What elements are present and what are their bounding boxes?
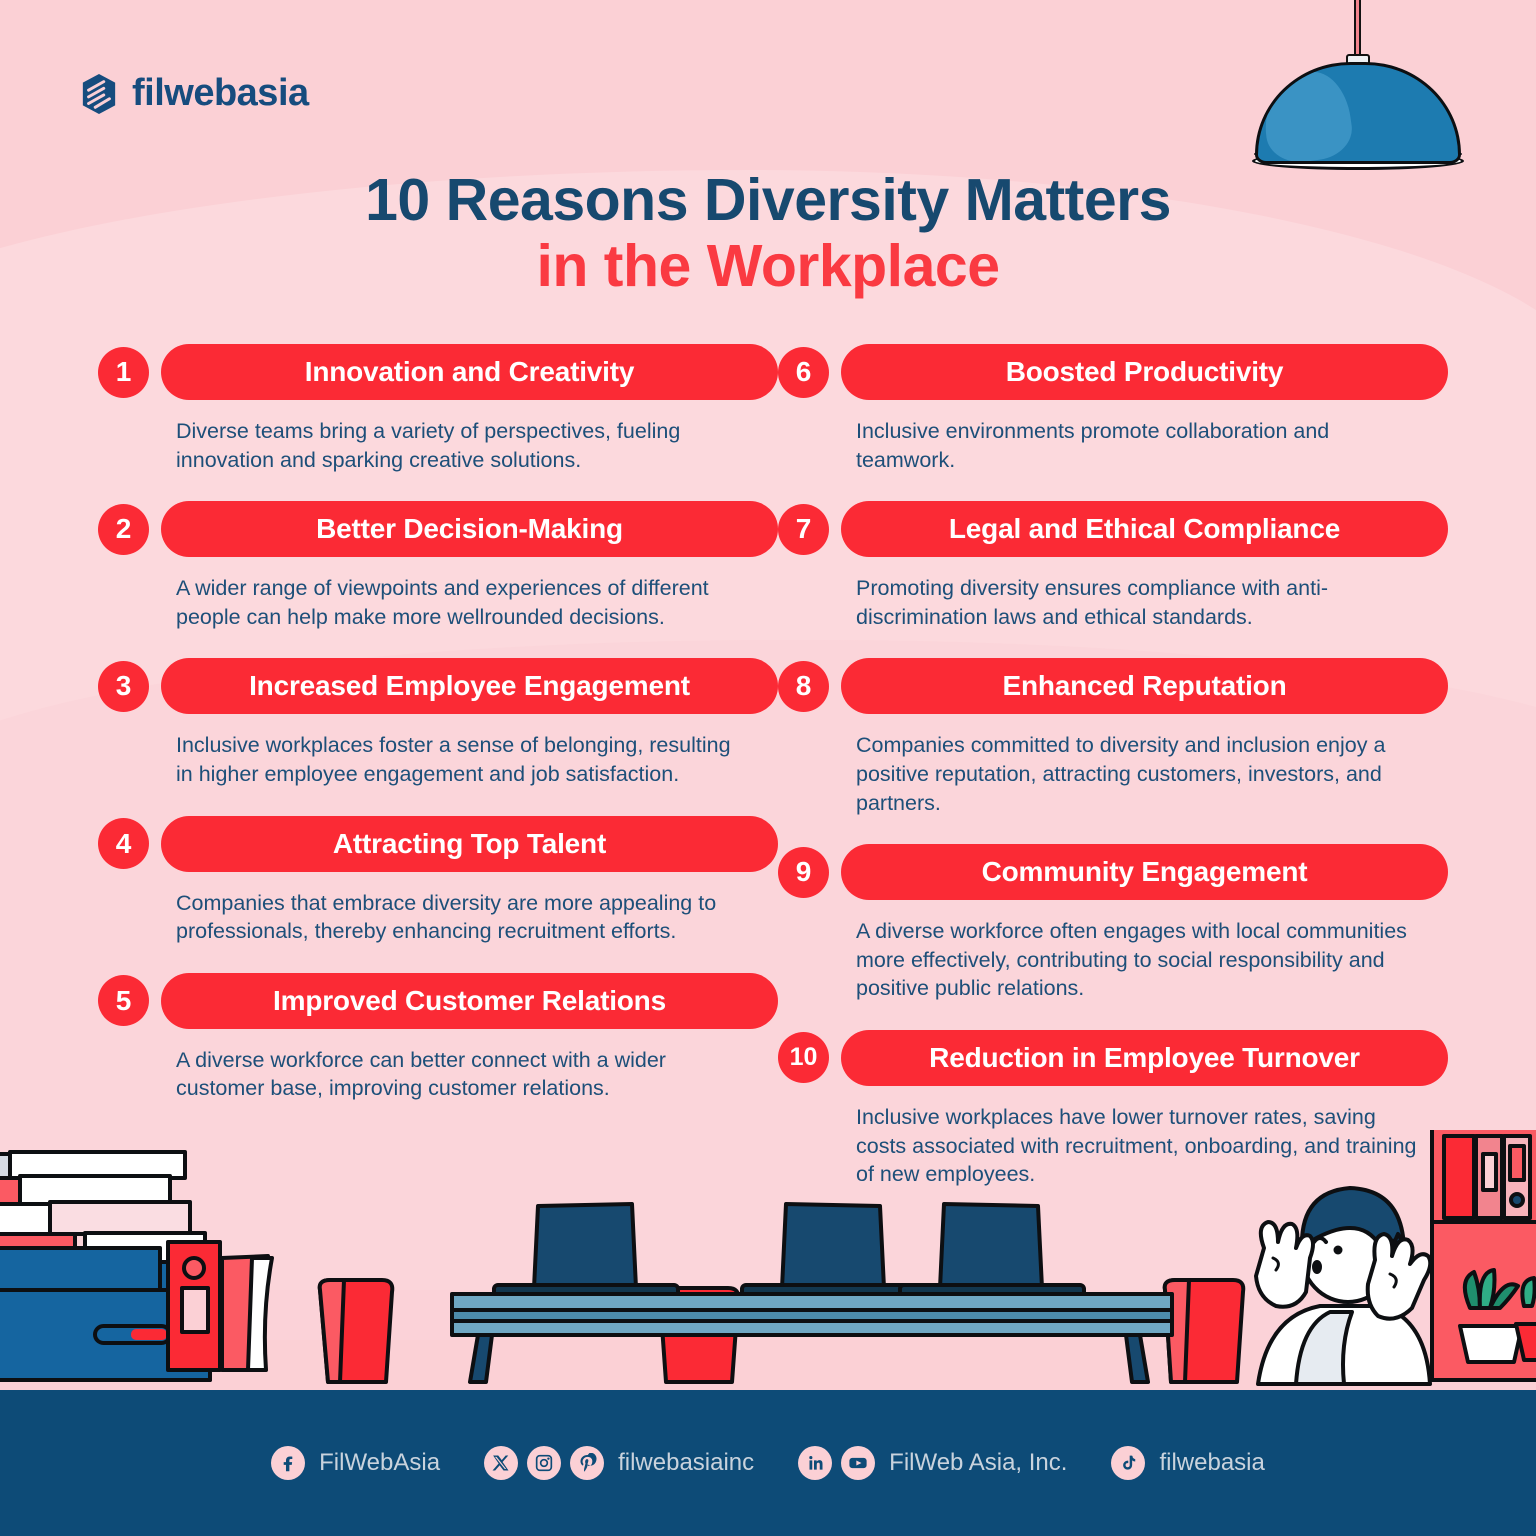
facebook-handle: FilWebAsia bbox=[319, 1449, 440, 1477]
reason-description-6: Inclusive environments promote collabora… bbox=[856, 417, 1421, 474]
instagram-icon[interactable] bbox=[527, 1446, 561, 1480]
reason-header-1: 1 Innovation and Creativity bbox=[98, 344, 778, 400]
reason-number-badge-10: 10 bbox=[778, 1032, 829, 1083]
reason-header-10: 10 Reduction in Employee Turnover bbox=[778, 1030, 1448, 1086]
reason-description-7: Promoting diversity ensures compliance w… bbox=[856, 574, 1421, 631]
reason-item-7: 7 Legal and Ethical Compliance Promoting… bbox=[778, 501, 1448, 631]
reason-number-badge-2: 2 bbox=[98, 504, 149, 555]
reasons-column-left: 1 Innovation and Creativity Diverse team… bbox=[98, 344, 778, 1216]
reason-item-6: 6 Boosted Productivity Inclusive environ… bbox=[778, 344, 1448, 474]
laptop bbox=[742, 1204, 926, 1297]
reason-heading-pill-2[interactable]: Better Decision-Making bbox=[161, 501, 778, 557]
reason-heading-pill-5[interactable]: Improved Customer Relations bbox=[161, 973, 778, 1029]
reason-heading-pill-1[interactable]: Innovation and Creativity bbox=[161, 344, 778, 400]
reason-header-6: 6 Boosted Productivity bbox=[778, 344, 1448, 400]
reason-description-2: A wider range of viewpoints and experien… bbox=[176, 574, 741, 631]
reason-heading-pill-4[interactable]: Attracting Top Talent bbox=[161, 816, 778, 872]
red-binder bbox=[168, 1242, 272, 1370]
reason-number-badge-7: 7 bbox=[778, 504, 829, 555]
reason-number-badge-6: 6 bbox=[778, 347, 829, 398]
lamp-cord bbox=[1354, 0, 1361, 58]
reason-number-badge-4: 4 bbox=[98, 818, 149, 869]
person-figure bbox=[1256, 1188, 1430, 1384]
facebook-icon[interactable] bbox=[271, 1446, 305, 1480]
reason-heading-pill-8[interactable]: Enhanced Reputation bbox=[841, 658, 1448, 714]
page-title: 10 Reasons Diversity Matters in the Work… bbox=[0, 168, 1536, 301]
brand-logo[interactable]: filwebasia bbox=[80, 72, 309, 115]
reason-number-badge-8: 8 bbox=[778, 661, 829, 712]
reason-item-5: 5 Improved Customer Relations A diverse … bbox=[98, 973, 778, 1103]
reason-heading-pill-10[interactable]: Reduction in Employee Turnover bbox=[841, 1030, 1448, 1086]
reason-description-9: A diverse workforce often engages with l… bbox=[856, 917, 1421, 1003]
xigpin-handle: filwebasiainc bbox=[618, 1449, 754, 1477]
reason-description-4: Companies that embrace diversity are mor… bbox=[176, 889, 741, 946]
x-twitter-icon[interactable] bbox=[484, 1446, 518, 1480]
laptop bbox=[494, 1204, 678, 1297]
page-title-line2: in the Workplace bbox=[0, 233, 1536, 301]
social-group-tiktok: filwebasia bbox=[1111, 1446, 1264, 1480]
reason-heading-pill-9[interactable]: Community Engagement bbox=[841, 844, 1448, 900]
reason-number-badge-5: 5 bbox=[98, 975, 149, 1026]
reason-header-4: 4 Attracting Top Talent bbox=[98, 816, 778, 872]
reason-header-7: 7 Legal and Ethical Compliance bbox=[778, 501, 1448, 557]
reason-header-5: 5 Improved Customer Relations bbox=[98, 973, 778, 1029]
reason-header-3: 3 Increased Employee Engagement bbox=[98, 658, 778, 714]
social-group-linkedin-youtube: FilWeb Asia, Inc. bbox=[798, 1446, 1067, 1480]
reason-item-2: 2 Better Decision-Making A wider range o… bbox=[98, 501, 778, 631]
brand-logo-text: filwebasia bbox=[132, 72, 309, 115]
infographic-canvas: filwebasia 10 Reasons Diversity Matters … bbox=[0, 0, 1536, 1536]
lamp-shade bbox=[1255, 62, 1461, 164]
filwebasia-hex-icon bbox=[80, 73, 118, 115]
reason-item-8: 8 Enhanced Reputation Companies committe… bbox=[778, 658, 1448, 817]
reason-header-8: 8 Enhanced Reputation bbox=[778, 658, 1448, 714]
reason-header-9: 9 Community Engagement bbox=[778, 844, 1448, 900]
reason-header-2: 2 Better Decision-Making bbox=[98, 501, 778, 557]
reason-description-5: A diverse workforce can better connect w… bbox=[176, 1046, 741, 1103]
tiktok-handle: filwebasia bbox=[1159, 1449, 1264, 1477]
reason-heading-pill-6[interactable]: Boosted Productivity bbox=[841, 344, 1448, 400]
reason-description-8: Companies committed to diversity and inc… bbox=[856, 731, 1421, 817]
office-scene-illustration bbox=[0, 1130, 1536, 1390]
social-group-facebook: FilWebAsia bbox=[271, 1446, 440, 1480]
reason-heading-pill-3[interactable]: Increased Employee Engagement bbox=[161, 658, 778, 714]
red-chair bbox=[320, 1280, 393, 1382]
social-footer: FilWebAsia filwebasiainc FilWeb Asia, In… bbox=[0, 1390, 1536, 1536]
laptop bbox=[900, 1204, 1084, 1297]
reasons-grid: 1 Innovation and Creativity Diverse team… bbox=[98, 344, 1448, 1216]
page-title-line1: 10 Reasons Diversity Matters bbox=[0, 168, 1536, 233]
reason-description-3: Inclusive workplaces foster a sense of b… bbox=[176, 731, 741, 788]
reason-number-badge-1: 1 bbox=[98, 347, 149, 398]
reason-item-9: 9 Community Engagement A diverse workfor… bbox=[778, 844, 1448, 1003]
red-chair bbox=[1165, 1280, 1244, 1382]
reason-number-badge-3: 3 bbox=[98, 661, 149, 712]
reason-heading-pill-7[interactable]: Legal and Ethical Compliance bbox=[841, 501, 1448, 557]
pinterest-icon[interactable] bbox=[570, 1446, 604, 1480]
linkedin-icon[interactable] bbox=[798, 1446, 832, 1480]
reason-item-4: 4 Attracting Top Talent Companies that e… bbox=[98, 816, 778, 946]
social-group-xigpin: filwebasiainc bbox=[484, 1446, 754, 1480]
reasons-column-right: 6 Boosted Productivity Inclusive environ… bbox=[778, 344, 1448, 1216]
linkedin-youtube-handle: FilWeb Asia, Inc. bbox=[889, 1449, 1067, 1477]
reason-item-1: 1 Innovation and Creativity Diverse team… bbox=[98, 344, 778, 474]
reason-number-badge-9: 9 bbox=[778, 847, 829, 898]
tiktok-icon[interactable] bbox=[1111, 1446, 1145, 1480]
conference-table bbox=[452, 1294, 1172, 1382]
reason-item-3: 3 Increased Employee Engagement Inclusiv… bbox=[98, 658, 778, 788]
youtube-icon[interactable] bbox=[841, 1446, 875, 1480]
reason-description-1: Diverse teams bring a variety of perspec… bbox=[176, 417, 741, 474]
